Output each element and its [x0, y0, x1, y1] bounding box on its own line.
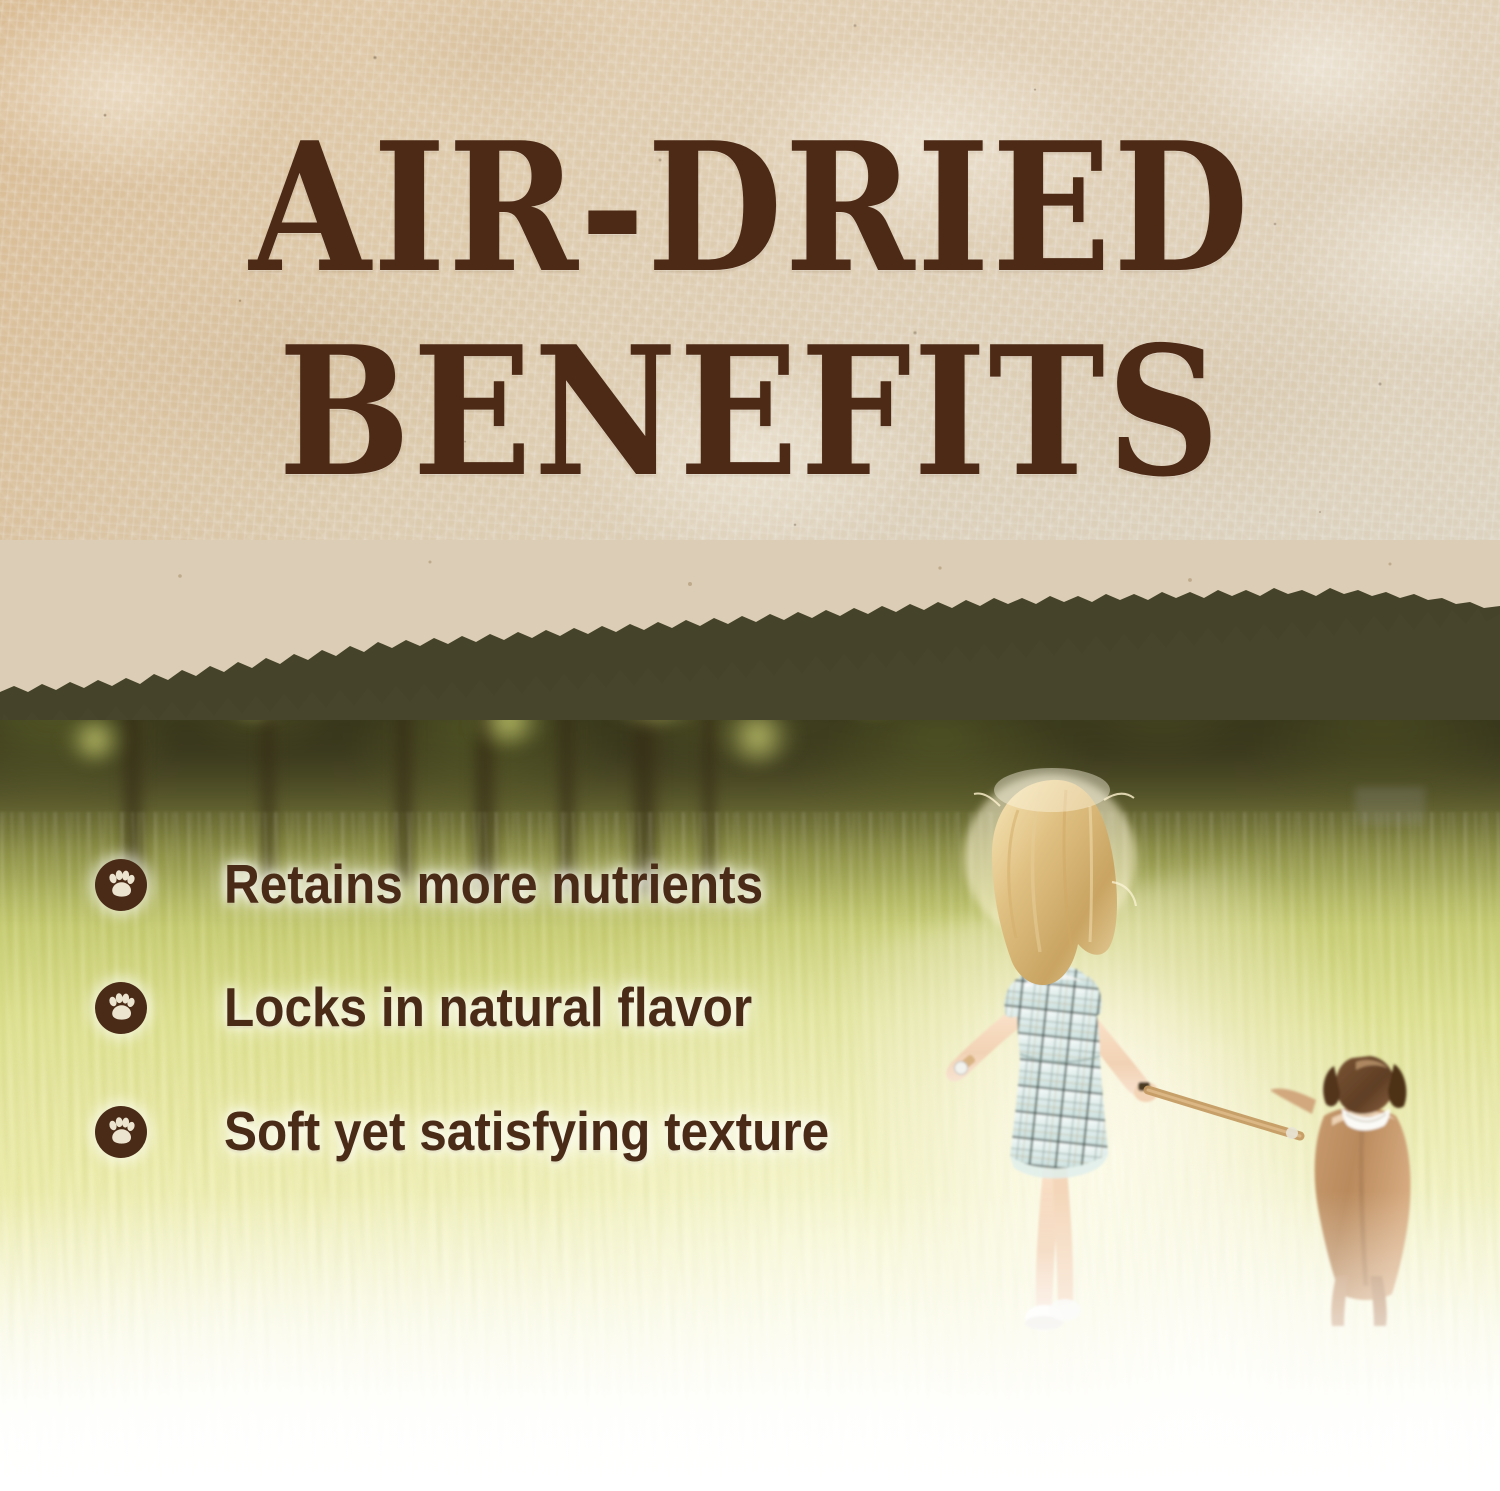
list-item[interactable]: Locks in natural flavor — [95, 980, 811, 1035]
marketing-banner: AIR-DRIED BENEFITS — [0, 0, 1500, 1491]
benefit-label: Locks in natural flavor — [224, 980, 752, 1035]
list-item[interactable]: Soft yet satisfying texture — [95, 1104, 896, 1159]
title-line-air-dried: AIR-DRIED — [90, 126, 1410, 290]
paw-print-icon — [95, 1106, 147, 1158]
title-line-benefits: BENEFITS — [90, 330, 1410, 494]
benefit-label: Soft yet satisfying texture — [224, 1104, 829, 1159]
benefit-label: Retains more nutrients — [224, 857, 763, 912]
lifestyle-photo — [0, 612, 1500, 1491]
paw-print-icon — [95, 982, 147, 1034]
paw-print-icon — [95, 859, 147, 911]
dog-leash — [0, 612, 1500, 1491]
list-item[interactable]: Retains more nutrients — [95, 857, 823, 912]
